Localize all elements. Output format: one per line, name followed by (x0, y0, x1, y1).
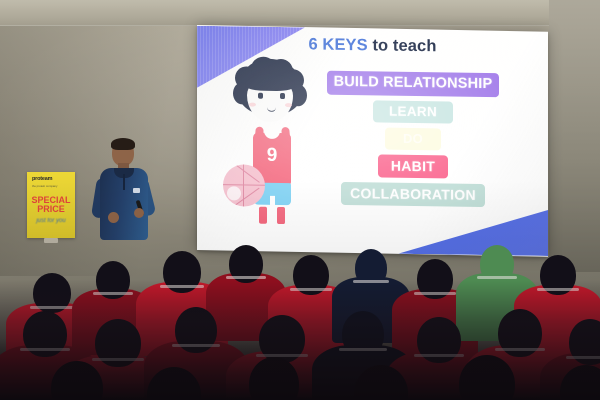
key-pill-collaboration: COLLABORATION (341, 182, 485, 207)
ceiling-band (0, 0, 600, 26)
audience-uniform-collar (226, 276, 265, 279)
audience-uniform-collar (477, 276, 516, 279)
character-eye-left (258, 93, 263, 99)
audience (0, 215, 600, 400)
keys-list: BUILD RELATIONSHIP LEARN DO HABIT COLLAB… (315, 71, 511, 208)
slide-title-rest: to teach (368, 36, 437, 55)
shorts-notch (270, 196, 275, 206)
presenter-badge (133, 188, 140, 193)
presenter-hair (111, 138, 135, 150)
character-cheek-right (285, 103, 292, 107)
character-eye-right (280, 93, 285, 99)
character-cheek-left (249, 103, 256, 107)
basketball-player-illustration: 9 (223, 56, 319, 237)
key-pill-habit: HABIT (378, 154, 448, 178)
key-pill-do: DO (385, 128, 441, 151)
key-pill-learn: LEARN (373, 100, 453, 124)
presenter-placket (123, 174, 125, 190)
banner-logo-subtitle: the protein company (32, 184, 70, 188)
basketball-highlight (227, 186, 241, 200)
slide-title-highlight: 6 KEYS (308, 35, 367, 54)
banner-headline: SPECIAL PRICE (27, 196, 75, 215)
jersey-number: 9 (253, 145, 291, 168)
banner-logo: proteam (32, 176, 70, 183)
key-pill-build-relationship: BUILD RELATIONSHIP (327, 71, 500, 97)
basketball-icon (223, 164, 265, 207)
presentation-photo-scene: 6 KEYS to teach (0, 0, 600, 400)
audience-shadow-overlay (0, 280, 600, 400)
